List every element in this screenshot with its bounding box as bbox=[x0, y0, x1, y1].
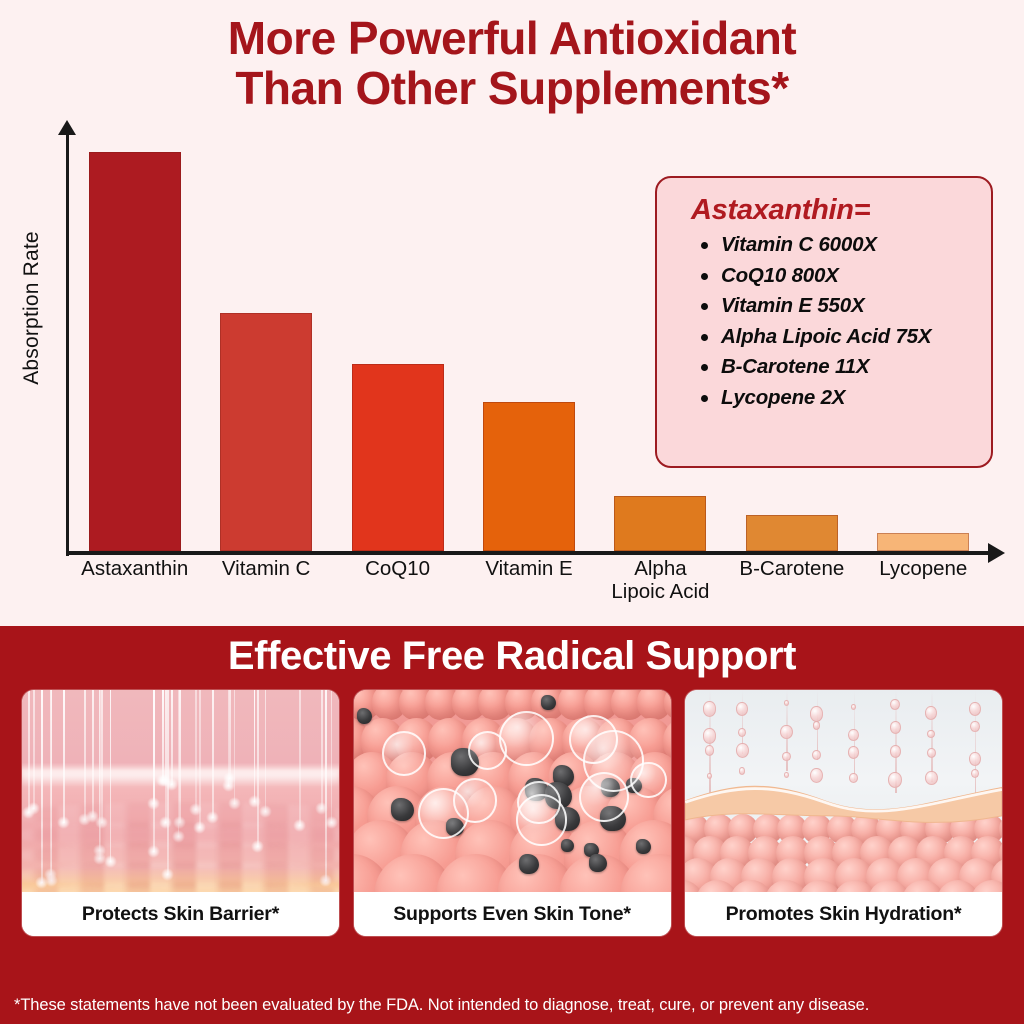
skin-cells-particles-art bbox=[354, 690, 671, 892]
callout-item: Vitamin E 550X bbox=[679, 294, 981, 318]
light-ray bbox=[265, 690, 267, 812]
x-label-vitamin-e: Vitamin E bbox=[457, 558, 600, 581]
water-droplet bbox=[890, 745, 901, 758]
callout-item: Alpha Lipoic Acid 75X bbox=[679, 325, 981, 349]
light-ray bbox=[321, 690, 323, 809]
bar-vitamin-c bbox=[220, 313, 312, 551]
benefits-headline: Effective Free Radical Support bbox=[0, 634, 1024, 679]
callout-item: Lycopene 2X bbox=[679, 386, 981, 410]
callout-title: Astaxanthin= bbox=[691, 194, 981, 227]
light-ray bbox=[212, 690, 214, 818]
astaxanthin-comparison-callout: Astaxanthin= Vitamin C 6000XCoQ10 800XVi… bbox=[655, 176, 993, 468]
skin-surface-wave bbox=[685, 778, 1002, 832]
benefit-panels: Protects Skin Barrier* Supports Even Ski… bbox=[22, 690, 1002, 936]
water-droplet bbox=[782, 752, 790, 762]
light-ray bbox=[84, 690, 86, 820]
water-droplet bbox=[970, 721, 979, 732]
skin-tone-illustration bbox=[354, 690, 671, 892]
skin-hydration-droplets-art bbox=[685, 690, 1002, 892]
free-radical-particle bbox=[589, 854, 607, 872]
bar-coq10 bbox=[352, 364, 444, 551]
water-droplet bbox=[851, 704, 857, 711]
antioxidant-bubble bbox=[453, 778, 498, 823]
water-droplet bbox=[927, 748, 936, 759]
fda-disclaimer: *These statements have not been evaluate… bbox=[0, 986, 1024, 1024]
surface-haze bbox=[22, 771, 339, 787]
page-title-line-1: More Powerful Antioxidant bbox=[0, 14, 1024, 64]
benefit-caption-0: Protects Skin Barrier* bbox=[22, 892, 339, 936]
x-label-vitamin-c: Vitamin C bbox=[194, 558, 337, 581]
water-droplet bbox=[812, 750, 821, 760]
callout-item: CoQ10 800X bbox=[679, 264, 981, 288]
antioxidant-bubble bbox=[516, 794, 568, 846]
benefits-section: Effective Free Radical Support Protects … bbox=[0, 626, 1024, 1024]
x-label-lycopene: Lycopene bbox=[852, 558, 995, 581]
water-droplet bbox=[890, 699, 900, 711]
water-droplet bbox=[705, 745, 715, 756]
water-droplet bbox=[784, 700, 789, 706]
antioxidant-bubble bbox=[499, 711, 554, 766]
water-droplet bbox=[738, 728, 746, 737]
water-droplet bbox=[736, 743, 749, 758]
water-droplet bbox=[703, 701, 716, 716]
free-radical-particle bbox=[357, 708, 373, 724]
x-label-astaxanthin: Astaxanthin bbox=[63, 558, 206, 581]
water-droplet bbox=[739, 767, 746, 775]
water-droplet bbox=[969, 752, 982, 767]
water-droplet bbox=[890, 721, 901, 733]
water-droplet bbox=[848, 729, 858, 741]
page-title: More Powerful Antioxidant Than Other Sup… bbox=[0, 14, 1024, 113]
benefit-panel-skin-barrier: Protects Skin Barrier* bbox=[22, 690, 339, 936]
free-radical-particle bbox=[541, 695, 556, 710]
x-axis bbox=[66, 551, 996, 555]
skin-hydration-illustration bbox=[685, 690, 1002, 892]
x-label-b-carotene: B-Carotene bbox=[720, 558, 863, 581]
benefit-caption-2: Promotes Skin Hydration* bbox=[685, 892, 1002, 936]
light-ray bbox=[63, 690, 65, 823]
x-axis-tick-labels: AstaxanthinVitamin CCoQ10Vitamin EAlphaL… bbox=[69, 558, 1009, 618]
bar-astaxanthin bbox=[89, 152, 181, 552]
water-droplet bbox=[736, 702, 749, 717]
free-radical-particle bbox=[391, 798, 414, 821]
callout-list: Vitamin C 6000XCoQ10 800XVitamin E 550XA… bbox=[679, 233, 981, 410]
water-droplet bbox=[925, 706, 937, 719]
water-droplet bbox=[927, 730, 935, 739]
light-ray bbox=[33, 690, 35, 809]
light-ray bbox=[162, 690, 164, 781]
light-ray bbox=[92, 690, 94, 817]
light-ray bbox=[28, 690, 30, 813]
water-droplet bbox=[703, 728, 716, 743]
free-radical-particle bbox=[519, 854, 539, 874]
benefit-panel-skin-tone: Supports Even Skin Tone* bbox=[354, 690, 671, 936]
light-ray bbox=[195, 690, 197, 810]
bar-lycopene bbox=[877, 533, 969, 551]
callout-item: Vitamin C 6000X bbox=[679, 233, 981, 257]
skin-barrier-illustration bbox=[22, 690, 339, 892]
bar-alpha-lipoic-acid bbox=[614, 496, 706, 551]
water-droplet bbox=[810, 706, 823, 721]
skin-light-rays-art bbox=[22, 690, 339, 892]
x-label-alpha-lipoic-acid: AlphaLipoic Acid bbox=[589, 558, 732, 604]
x-label-coq10: CoQ10 bbox=[326, 558, 469, 581]
water-droplet bbox=[969, 702, 981, 715]
light-ray bbox=[331, 690, 333, 823]
page-title-line-2: Than Other Supplements* bbox=[0, 64, 1024, 114]
infographic-page: More Powerful Antioxidant Than Other Sup… bbox=[0, 0, 1024, 1024]
light-ray bbox=[229, 690, 231, 779]
benefit-panel-skin-hydration: Promotes Skin Hydration* bbox=[685, 690, 1002, 936]
free-radical-particle bbox=[636, 839, 651, 854]
bar-vitamin-e bbox=[483, 402, 575, 551]
water-droplet bbox=[848, 746, 859, 759]
chart-section: More Powerful Antioxidant Than Other Sup… bbox=[0, 0, 1024, 626]
antioxidant-bubble bbox=[569, 715, 618, 764]
water-droplet bbox=[813, 721, 821, 730]
benefit-caption-1: Supports Even Skin Tone* bbox=[354, 892, 671, 936]
water-droplet bbox=[971, 769, 979, 778]
antioxidant-bubble bbox=[630, 762, 666, 798]
callout-item: B-Carotene 11X bbox=[679, 355, 981, 379]
water-droplet bbox=[780, 725, 793, 739]
antioxidant-bubble bbox=[579, 772, 629, 822]
bar-b-carotene bbox=[746, 515, 838, 551]
y-axis-label: Absorption Rate bbox=[20, 208, 44, 408]
